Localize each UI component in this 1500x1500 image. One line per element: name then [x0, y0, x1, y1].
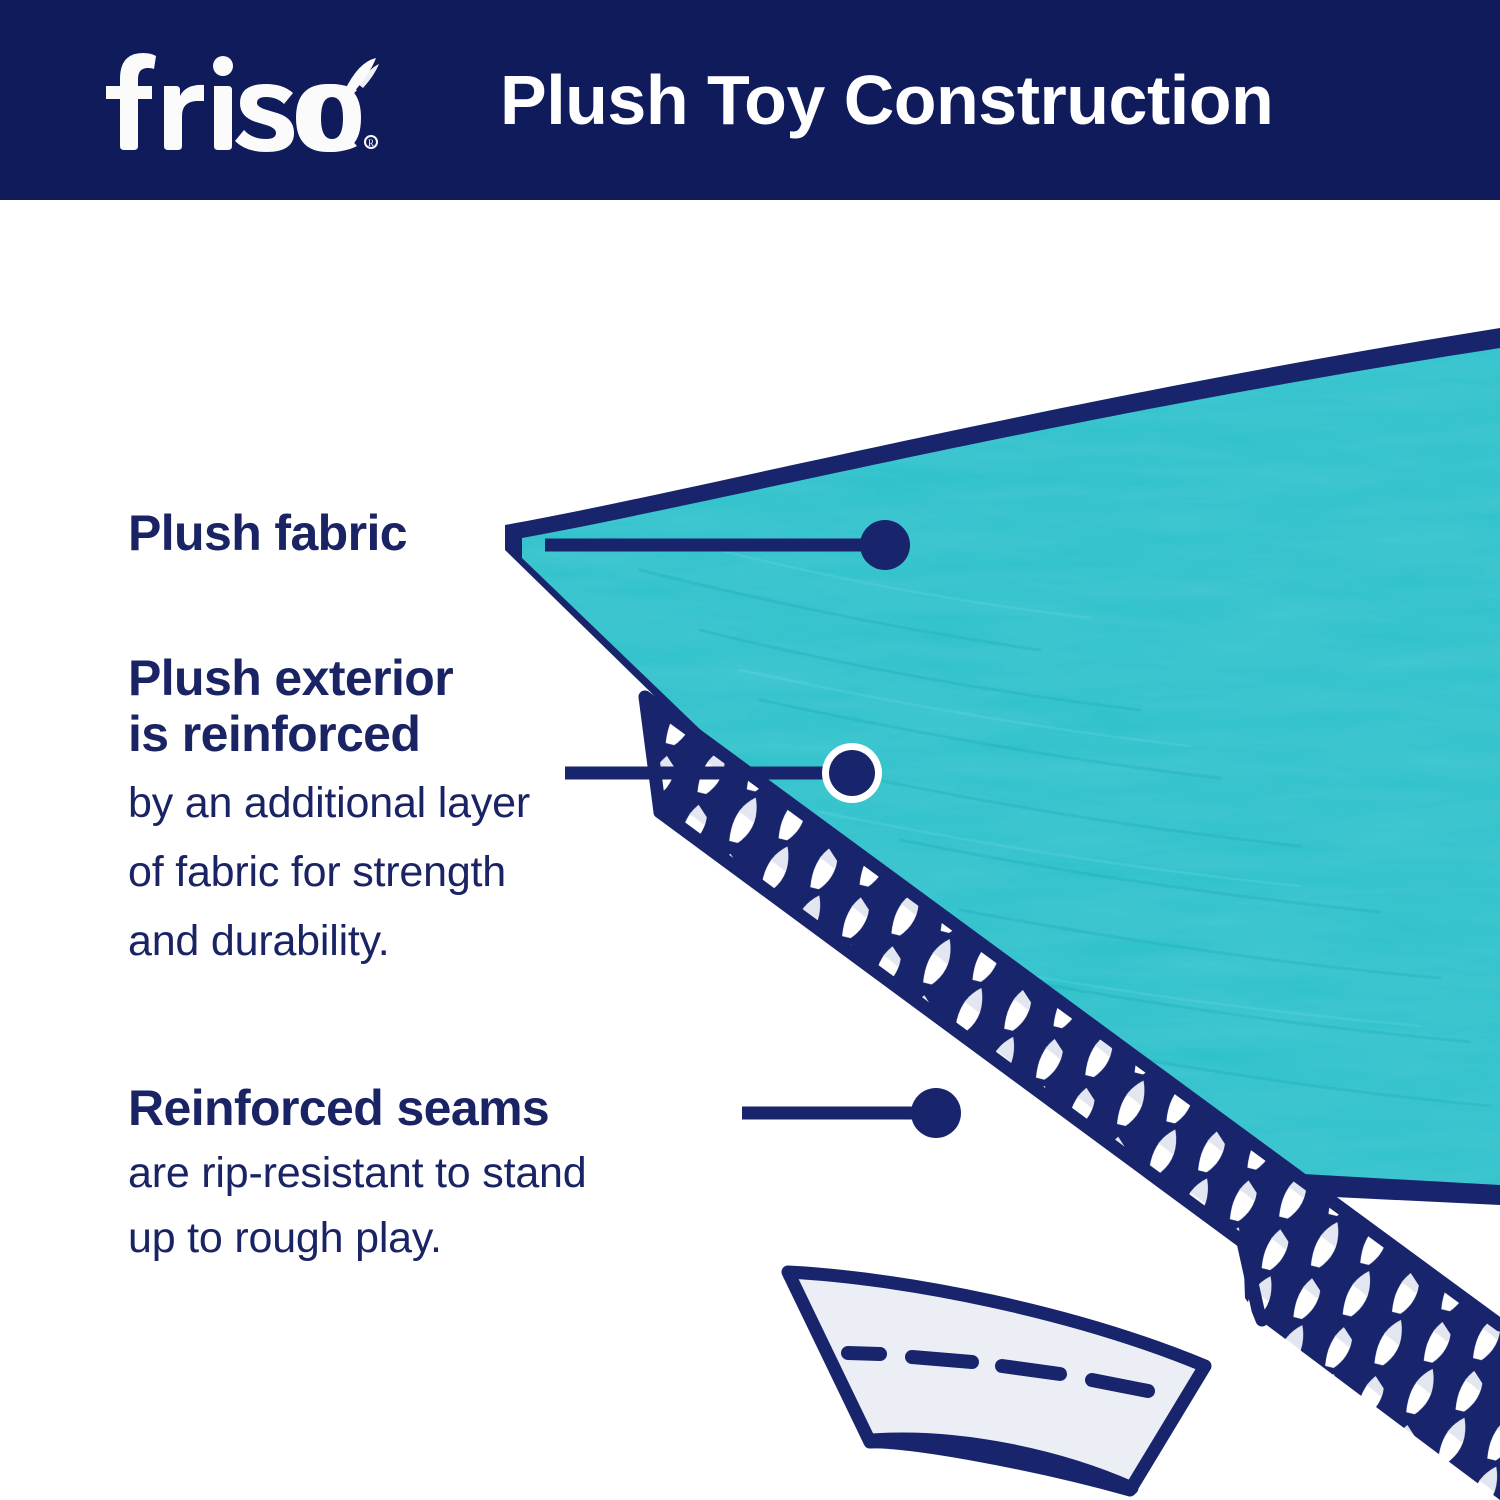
callout-plush-exterior: Plush exterior is reinforced by an addit… — [128, 650, 530, 969]
callout-plush-exterior-body-line-1: by an additional layer — [128, 776, 530, 831]
callout-plush-exterior-heading-line-2: is reinforced — [128, 706, 530, 762]
callout-reinforced-seams-body-line-2: up to rough play. — [128, 1211, 586, 1266]
callout-reinforced-seams-heading-line-1: Reinforced seams — [128, 1080, 586, 1136]
leader-dot-plush-exterior — [829, 750, 875, 796]
callout-plush-exterior-body-line-3: and durability. — [128, 914, 530, 969]
svg-text:R: R — [368, 138, 374, 148]
leader-dot-plush-fabric — [860, 520, 910, 570]
page-title: Plush Toy Construction — [500, 0, 1273, 200]
callout-plush-fabric-heading-line-1: Plush fabric — [128, 505, 407, 561]
leader-line-reinforced-seams — [742, 1088, 961, 1138]
infographic-page: R Plush Toy Construction — [0, 0, 1500, 1500]
frisco-logo: R — [86, 46, 386, 156]
seam-flap-layer — [786, 1272, 1205, 1500]
callout-plush-exterior-heading-line-1: Plush exterior — [128, 650, 530, 706]
callout-reinforced-seams-body-line-1: are rip-resistant to stand — [128, 1146, 586, 1201]
callout-plush-exterior-body-line-2: of fabric for strength — [128, 845, 530, 900]
header-banner: R Plush Toy Construction — [0, 0, 1500, 200]
leader-dot-reinforced-seams — [911, 1088, 961, 1138]
callout-plush-fabric: Plush fabric — [128, 505, 407, 561]
callout-reinforced-seams: Reinforced seams are rip-resistant to st… — [128, 1080, 586, 1266]
